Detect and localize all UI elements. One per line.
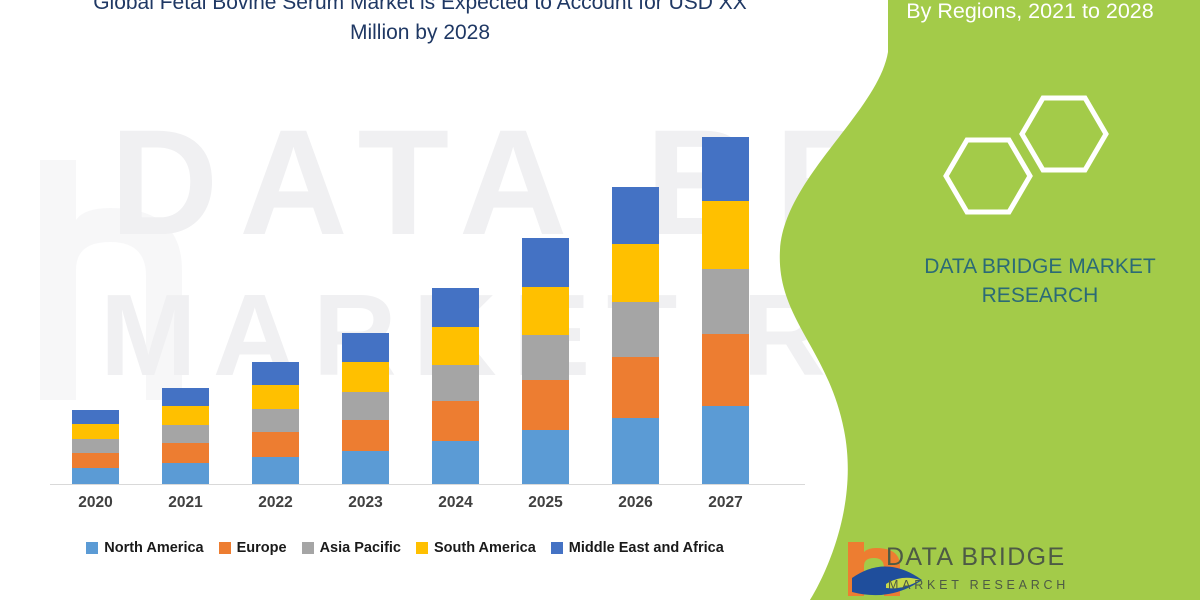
legend-item-north-america[interactable]: North America bbox=[86, 540, 203, 556]
bar-segment bbox=[342, 362, 389, 392]
panel-title: By Regions, 2021 to 2028 bbox=[865, 0, 1195, 26]
bar-segment bbox=[432, 401, 479, 441]
chart-title: Global Fetal Bovine Serum Market is Expe… bbox=[90, 0, 750, 48]
x-axis-label-2027: 2027 bbox=[702, 494, 749, 512]
bar-segment bbox=[342, 333, 389, 362]
bar-segment bbox=[702, 137, 749, 201]
bar-segment bbox=[252, 432, 299, 457]
legend-swatch-icon bbox=[416, 542, 428, 554]
x-axis-label-2020: 2020 bbox=[72, 494, 119, 512]
bar-2021[interactable] bbox=[162, 388, 209, 485]
x-axis-label-2024: 2024 bbox=[432, 494, 479, 512]
bar-segment bbox=[702, 406, 749, 485]
bar-segment bbox=[72, 468, 119, 485]
bar-2024[interactable] bbox=[432, 288, 479, 485]
bar-segment bbox=[612, 302, 659, 357]
legend-item-middle-east-and-africa[interactable]: Middle East and Africa bbox=[551, 540, 724, 556]
bar-segment bbox=[162, 443, 209, 463]
logo-subtitle: MARKET RESEARCH bbox=[888, 578, 1069, 592]
bar-segment bbox=[432, 288, 479, 327]
bar-segment bbox=[162, 388, 209, 406]
bar-segment bbox=[522, 335, 569, 380]
legend-swatch-icon bbox=[302, 542, 314, 554]
bar-segment bbox=[702, 201, 749, 269]
bar-segment bbox=[612, 244, 659, 302]
bar-segment bbox=[342, 451, 389, 485]
x-axis-line bbox=[50, 484, 805, 485]
bar-2027[interactable] bbox=[702, 137, 749, 485]
bar-2022[interactable] bbox=[252, 362, 299, 485]
bar-segment bbox=[162, 406, 209, 425]
bar-segment bbox=[432, 441, 479, 485]
x-axis-label-2026: 2026 bbox=[612, 494, 659, 512]
bar-segment bbox=[432, 327, 479, 365]
legend-label: Asia Pacific bbox=[320, 540, 401, 556]
bar-segment bbox=[162, 463, 209, 485]
legend-item-asia-pacific[interactable]: Asia Pacific bbox=[302, 540, 401, 556]
bar-segment bbox=[432, 365, 479, 401]
legend-swatch-icon bbox=[219, 542, 231, 554]
bar-segment bbox=[702, 269, 749, 334]
bar-segment bbox=[522, 380, 569, 430]
bar-segment bbox=[72, 439, 119, 453]
legend-item-europe[interactable]: Europe bbox=[219, 540, 287, 556]
bar-chart-plot bbox=[50, 60, 810, 485]
bar-segment bbox=[162, 425, 209, 443]
brand-name: DATA BRIDGE MARKET RESEARCH bbox=[890, 252, 1190, 310]
infographic-root: DATA BRIDGE MARKET RESEARCH Global Fetal… bbox=[0, 0, 1200, 600]
logo-name: DATA BRIDGE bbox=[886, 543, 1066, 572]
legend-item-south-america[interactable]: South America bbox=[416, 540, 536, 556]
x-axis-label-2022: 2022 bbox=[252, 494, 299, 512]
legend-swatch-icon bbox=[551, 542, 563, 554]
hexagon-2021 bbox=[1022, 98, 1106, 170]
hexagon-group bbox=[925, 88, 1125, 238]
x-axis-labels: 20202021202220232024202520262027 bbox=[50, 494, 810, 520]
bar-2025[interactable] bbox=[522, 238, 569, 485]
bar-segment bbox=[72, 453, 119, 468]
bar-segment bbox=[612, 357, 659, 418]
bar-segment bbox=[342, 420, 389, 451]
bar-segment bbox=[612, 418, 659, 485]
bar-segment bbox=[72, 410, 119, 424]
bar-segment bbox=[252, 362, 299, 385]
bar-2026[interactable] bbox=[612, 187, 659, 485]
legend-label: North America bbox=[104, 540, 203, 556]
bar-segment bbox=[252, 457, 299, 485]
bar-2020[interactable] bbox=[72, 410, 119, 485]
hexagon-2028 bbox=[946, 140, 1030, 212]
legend-swatch-icon bbox=[86, 542, 98, 554]
bar-segment bbox=[72, 424, 119, 439]
x-axis-label-2025: 2025 bbox=[522, 494, 569, 512]
x-axis-label-2023: 2023 bbox=[342, 494, 389, 512]
bar-segment bbox=[522, 238, 569, 287]
bar-segment bbox=[612, 187, 659, 244]
legend-label: Middle East and Africa bbox=[569, 540, 724, 556]
bar-segment bbox=[252, 385, 299, 409]
bar-segment bbox=[702, 334, 749, 406]
bar-2023[interactable] bbox=[342, 333, 389, 485]
bar-segment bbox=[522, 287, 569, 335]
chart-legend: North AmericaEuropeAsia PacificSouth Ame… bbox=[0, 540, 810, 556]
legend-label: Europe bbox=[237, 540, 287, 556]
bar-segment bbox=[252, 409, 299, 432]
bar-segment bbox=[342, 392, 389, 420]
x-axis-label-2021: 2021 bbox=[162, 494, 209, 512]
bar-segment bbox=[522, 430, 569, 485]
legend-label: South America bbox=[434, 540, 536, 556]
